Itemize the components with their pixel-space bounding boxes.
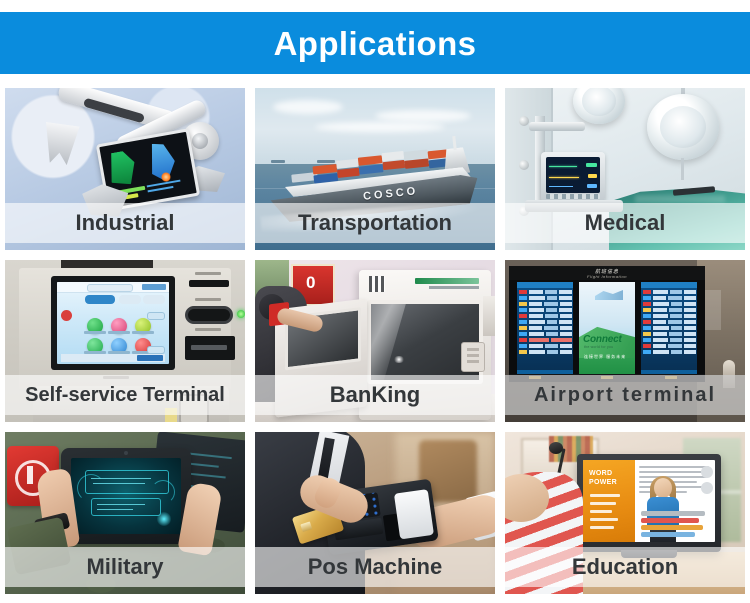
application-tile-medical[interactable]: Medical — [505, 88, 745, 250]
pos-machine-caption-bar: Pos Machine — [255, 547, 495, 587]
application-tile-banking[interactable]: BanKing — [255, 260, 495, 422]
tile-caption-transportation: Transportation — [298, 212, 452, 234]
tile-caption-banking: BanKing — [330, 384, 420, 406]
tile-caption-medical: Medical — [585, 212, 666, 234]
application-tile-education[interactable]: WORD POWER — [505, 432, 745, 594]
tile-caption-pos-machine: Pos Machine — [308, 556, 442, 578]
application-tile-military[interactable]: Military — [5, 432, 245, 594]
military-caption-bar: Military — [5, 547, 245, 587]
status-led-icon — [237, 310, 245, 318]
tile-caption-self-service-terminal: Self-service Terminal — [25, 385, 225, 405]
airport-terminal-caption-bar: Airport terminal — [505, 375, 745, 415]
application-tile-industrial[interactable]: Industrial — [5, 88, 245, 250]
page-header: Applications — [0, 12, 750, 74]
applications-page: Applications Industrial — [0, 0, 750, 603]
screen-title-line1: WORD — [589, 470, 612, 477]
education-caption-bar: Education — [505, 547, 745, 587]
banking-caption-bar: BanKing — [255, 375, 495, 415]
tile-caption-education: Education — [572, 556, 678, 578]
ad-cn-line: 连接世界 服务未来 — [584, 354, 626, 360]
flight-sign-en: Flight Information — [587, 274, 627, 279]
ad-headline: Connect — [583, 334, 622, 345]
tile-caption-military: Military — [86, 556, 163, 578]
advertising-panel: Connect the world for you 连接世界 服务未来 — [579, 282, 635, 376]
medical-caption-bar: Medical — [505, 203, 745, 243]
application-tile-airport-terminal[interactable]: 航班信息 Flight Information — [505, 260, 745, 422]
self-service-terminal-caption-bar: Self-service Terminal — [5, 375, 245, 415]
application-tile-self-service-terminal[interactable]: Self-service Terminal — [5, 260, 245, 422]
application-grid: Industrial — [5, 88, 745, 600]
application-tile-pos-machine[interactable]: Pos Machine — [255, 432, 495, 594]
transportation-caption-bar: Transportation — [255, 203, 495, 243]
page-title: Applications — [274, 27, 477, 60]
flight-board-right — [641, 282, 697, 376]
screen-title-line2: POWER — [589, 479, 617, 486]
ad-subline: the world for you — [584, 345, 613, 349]
application-tile-transportation[interactable]: COSCO Transportation — [255, 88, 495, 250]
industrial-caption-bar: Industrial — [5, 203, 245, 243]
tile-caption-industrial: Industrial — [75, 212, 174, 234]
tile-caption-airport-terminal: Airport terminal — [534, 385, 716, 405]
flight-board-left — [517, 282, 573, 376]
